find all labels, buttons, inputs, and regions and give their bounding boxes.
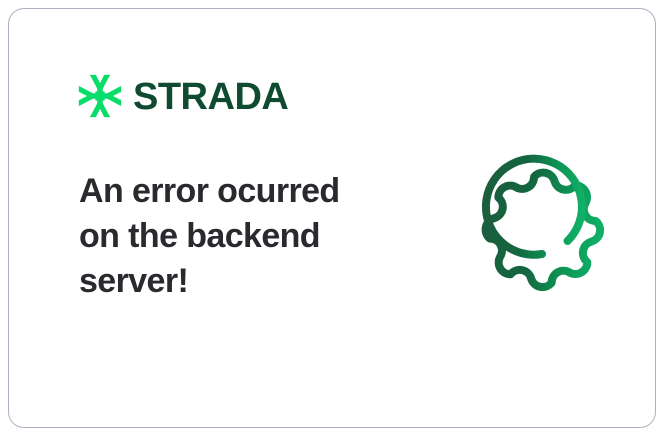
strada-asterisk-icon [77, 73, 123, 119]
brand-wordmark: STRADA [133, 78, 288, 116]
error-card: STRADA An error ocurred on the backend s… [8, 8, 656, 428]
error-headline: An error ocurred on the backend server! [79, 169, 379, 304]
gear-cog-icon [449, 147, 619, 317]
brand-lockup: STRADA [77, 73, 288, 119]
